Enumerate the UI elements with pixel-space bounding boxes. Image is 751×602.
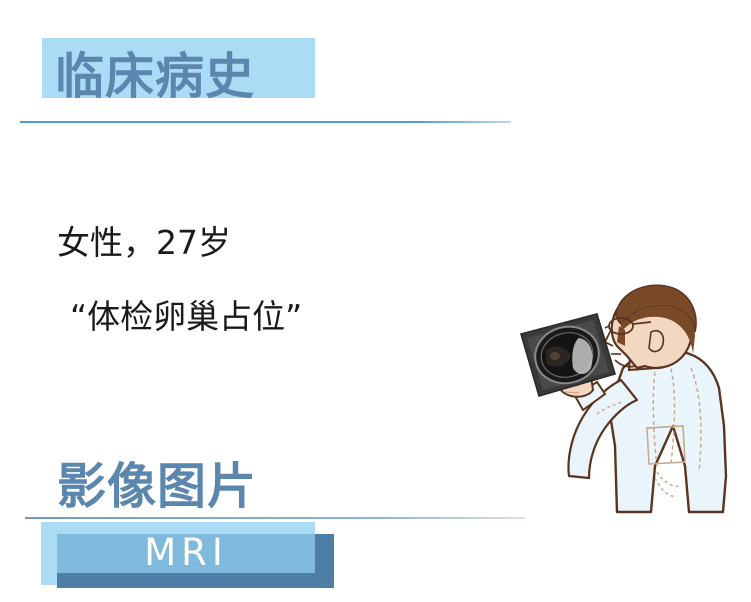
slide-canvas: 临床病史 女性，27岁 “体检卵巢占位” 影像图片 MRI bbox=[0, 0, 751, 602]
doctor-illustration bbox=[505, 276, 751, 526]
clinical-history-heading: 临床病史 bbox=[55, 46, 255, 108]
head-shape bbox=[605, 285, 696, 368]
patient-demographics-text: 女性，27岁 bbox=[57, 222, 231, 264]
imaging-heading: 影像图片 bbox=[57, 456, 257, 518]
lab-coat-shape bbox=[609, 351, 726, 512]
patient-findings-text: “体检卵巢占位” bbox=[70, 296, 302, 338]
imaging-divider bbox=[25, 517, 525, 519]
mri-badge-label: MRI bbox=[57, 528, 315, 578]
clinical-history-divider bbox=[20, 121, 511, 123]
mri-film bbox=[521, 314, 615, 396]
